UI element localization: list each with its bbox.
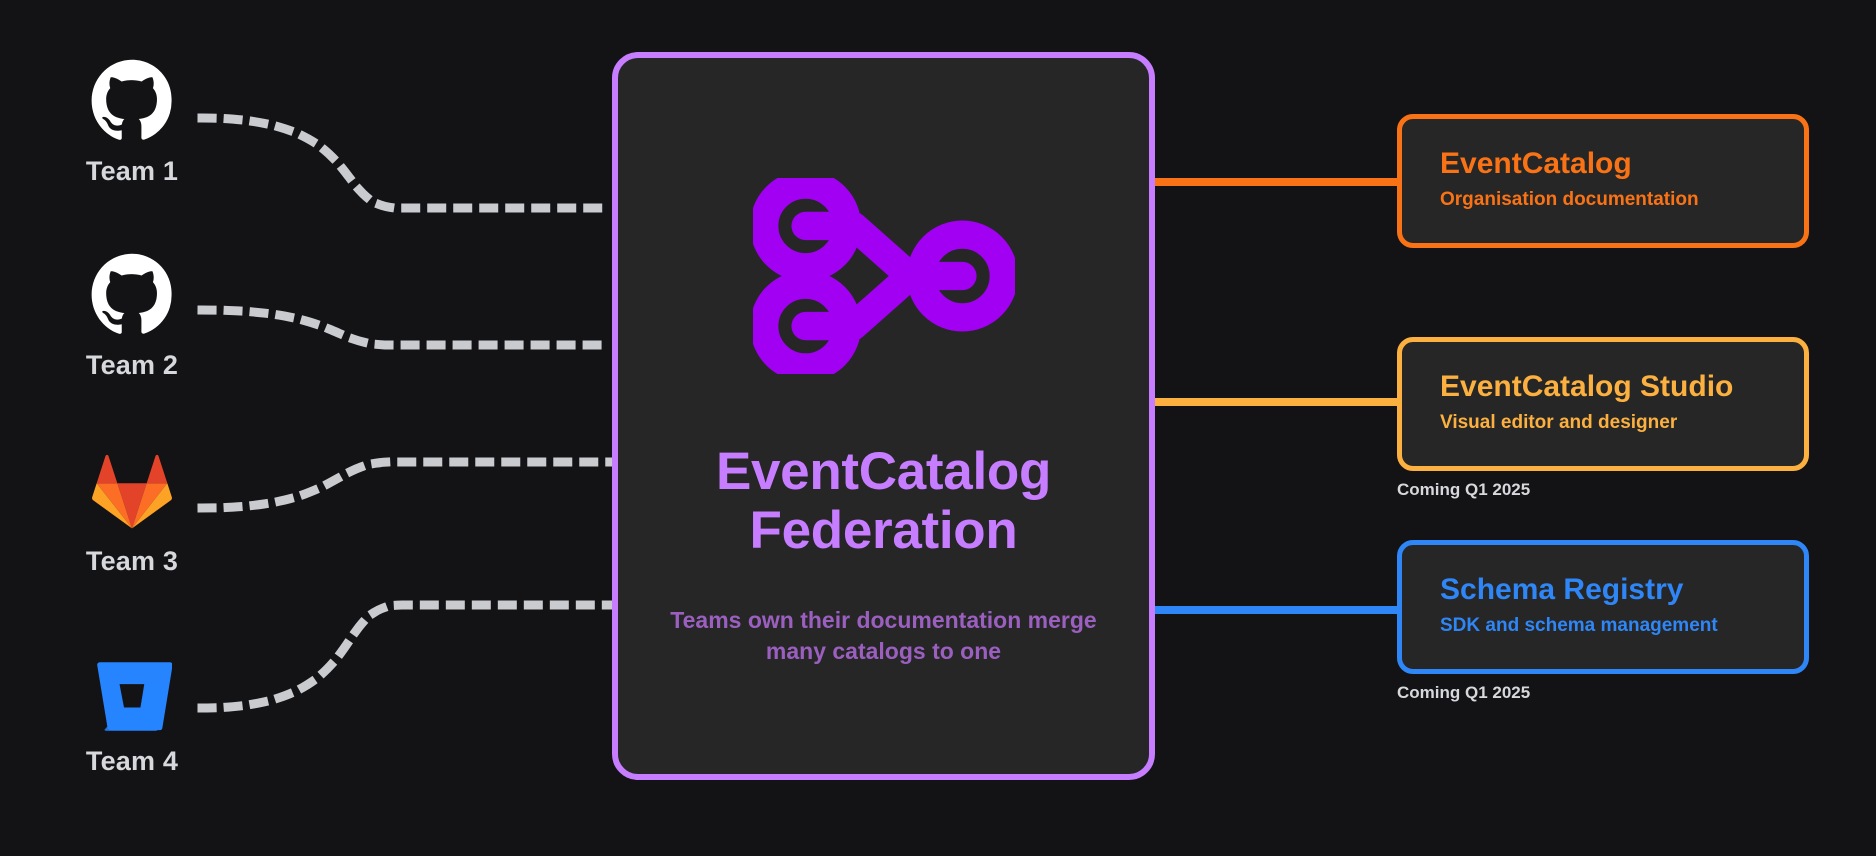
federation-hub-card[interactable]: EventCatalog Federation Teams own their … xyxy=(612,52,1155,780)
product-title: Schema Registry xyxy=(1440,573,1766,608)
hub-title: EventCatalog Federation xyxy=(674,442,1094,561)
product-subtitle: Organisation documentation xyxy=(1440,189,1766,211)
diagram-canvas: Team 1 Team 2 Team 3 xyxy=(0,0,1876,856)
team-label: Team 4 xyxy=(86,746,178,777)
product-title: EventCatalog xyxy=(1440,147,1766,182)
connector-team-2 xyxy=(202,310,612,345)
team-label: Team 3 xyxy=(86,546,178,577)
coming-badge-studio: Coming Q1 2025 xyxy=(1397,480,1809,500)
product-title: EventCatalog Studio xyxy=(1440,370,1766,405)
team-node-3[interactable]: Team 3 xyxy=(52,448,212,577)
connector-team-4 xyxy=(202,605,612,708)
product-card-registry[interactable]: Schema Registry SDK and schema managemen… xyxy=(1397,540,1809,674)
coming-badge-registry: Coming Q1 2025 xyxy=(1397,683,1809,703)
team-label: Team 2 xyxy=(86,350,178,381)
gitlab-icon xyxy=(89,448,175,534)
team-node-2[interactable]: Team 2 xyxy=(52,252,212,381)
hub-subtitle: Teams own their documentation merge many… xyxy=(669,605,1099,667)
product-subtitle: SDK and schema management xyxy=(1440,615,1766,637)
product-subtitle: Visual editor and designer xyxy=(1440,412,1766,434)
team-node-1[interactable]: Team 1 xyxy=(52,58,212,187)
connector-team-3 xyxy=(202,462,612,508)
product-card-eventcatalog[interactable]: EventCatalog Organisation documentation xyxy=(1397,114,1809,248)
bitbucket-icon xyxy=(89,648,175,734)
team-node-4[interactable]: Team 4 xyxy=(52,648,212,777)
github-icon xyxy=(89,252,175,338)
product-card-studio[interactable]: EventCatalog Studio Visual editor and de… xyxy=(1397,337,1809,471)
github-icon xyxy=(89,58,175,144)
team-label: Team 1 xyxy=(86,156,178,187)
git-merge-icon xyxy=(749,176,1019,376)
connector-team-1 xyxy=(202,118,612,208)
